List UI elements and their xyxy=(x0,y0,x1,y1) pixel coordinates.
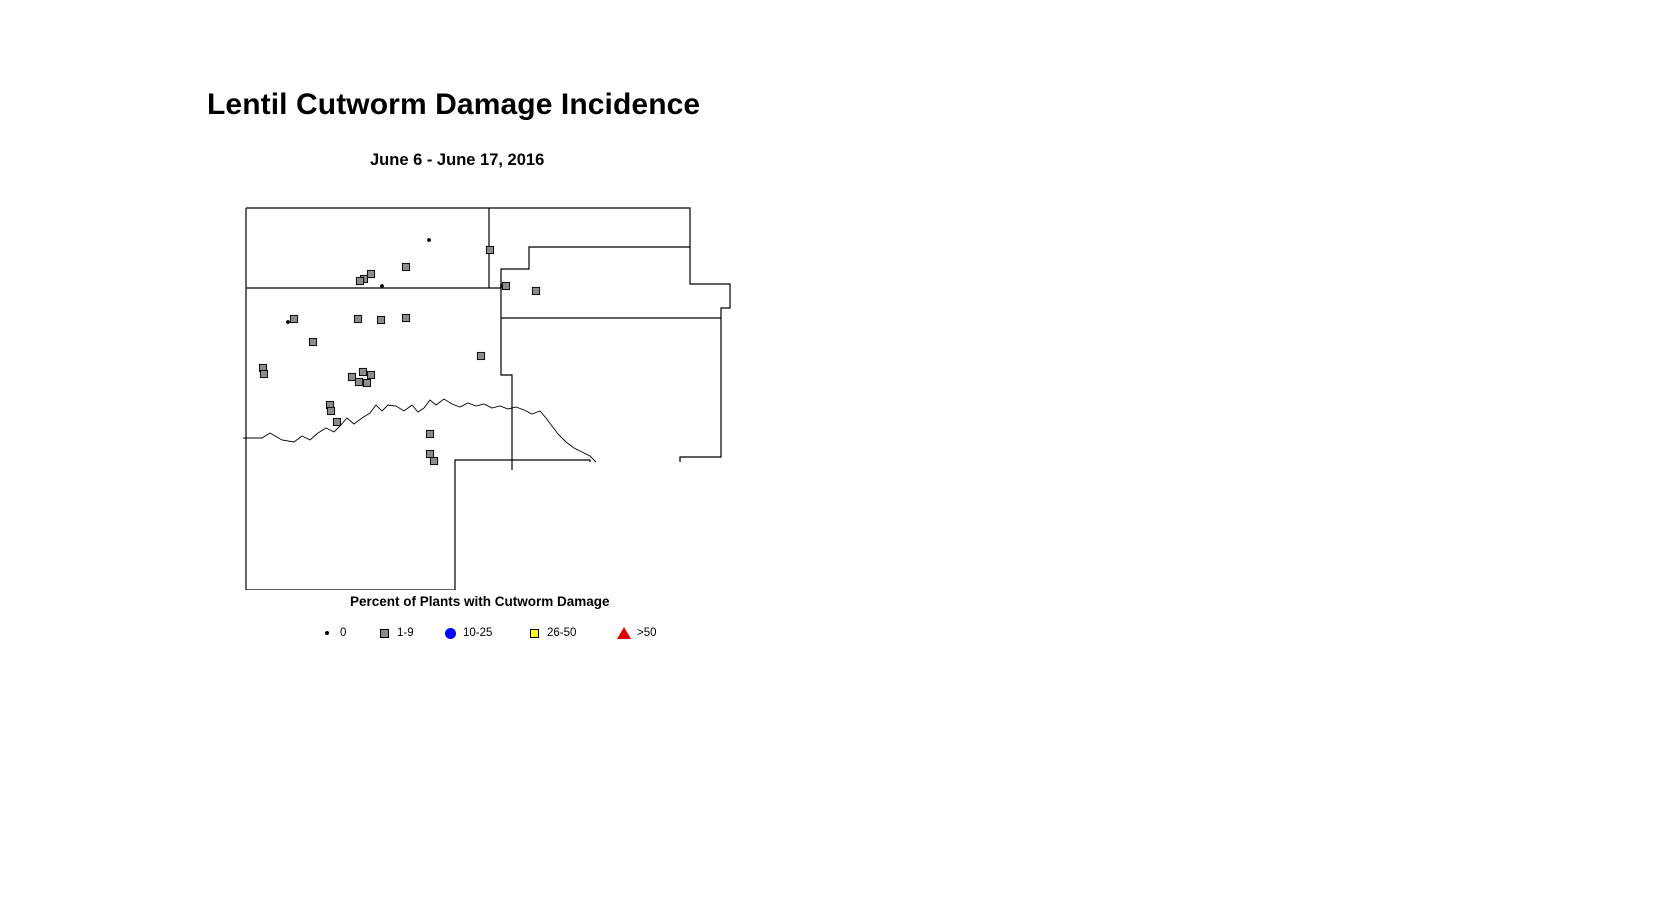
map-point-square xyxy=(260,370,267,377)
map-point-square xyxy=(290,315,297,322)
map-point-square xyxy=(532,287,539,294)
legend-item-label: >50 xyxy=(637,627,657,639)
map-point-square xyxy=(486,246,493,253)
legend-item-50: >50 xyxy=(617,622,657,644)
triangle-marker-glyph xyxy=(617,627,631,639)
map-svg xyxy=(240,200,740,590)
square-marker xyxy=(527,626,541,640)
map-point-square xyxy=(359,368,366,375)
legend-title: Percent of Plants with Cutworm Damage xyxy=(350,594,610,609)
legend-item-1-9: 1-9 xyxy=(377,622,414,644)
map-point-square xyxy=(354,315,361,322)
map-point-square xyxy=(363,379,370,386)
dot-marker-glyph xyxy=(325,631,329,635)
map-point-square xyxy=(377,316,384,323)
page-subtitle: June 6 - June 17, 2016 xyxy=(370,151,544,170)
data-points-layer xyxy=(259,238,539,465)
region-boundaries xyxy=(243,208,730,590)
map-point-square xyxy=(309,338,316,345)
square-marker-glyph xyxy=(530,629,539,638)
map-point-dot xyxy=(286,320,290,324)
map-point-square xyxy=(356,277,363,284)
legend-item-0: 0 xyxy=(320,622,346,644)
map-point-square xyxy=(367,270,374,277)
map-point-square xyxy=(402,263,409,270)
legend-item-label: 1-9 xyxy=(397,627,414,639)
map-point-square xyxy=(477,352,484,359)
legend: 01-910-2526-50>50 xyxy=(315,622,715,646)
map-point-square xyxy=(348,373,355,380)
map-point-square xyxy=(327,407,334,414)
map-point-square xyxy=(333,418,340,425)
map-point-square xyxy=(367,371,374,378)
square-marker-glyph xyxy=(380,629,389,638)
map-point-square xyxy=(502,282,509,289)
map-point-square xyxy=(426,450,433,457)
legend-item-26-50: 26-50 xyxy=(527,622,576,644)
region-outline xyxy=(246,208,730,590)
circle-marker xyxy=(443,626,457,640)
map-point-square xyxy=(426,430,433,437)
map-page: Lentil Cutworm Damage Incidence June 6 -… xyxy=(0,0,1673,900)
legend-item-label: 0 xyxy=(340,627,346,639)
map-point-dot xyxy=(427,238,431,242)
square-marker xyxy=(377,626,391,640)
circle-marker-glyph xyxy=(445,628,456,639)
legend-item-label: 10-25 xyxy=(463,627,492,639)
map-point-square xyxy=(355,378,362,385)
river-boundary xyxy=(243,399,596,462)
map-figure xyxy=(240,200,740,590)
legend-item-10-25: 10-25 xyxy=(443,622,492,644)
dot-marker xyxy=(320,626,334,640)
legend-item-label: 26-50 xyxy=(547,627,576,639)
map-point-dot xyxy=(380,284,384,288)
page-title: Lentil Cutworm Damage Incidence xyxy=(207,88,700,122)
map-point-square xyxy=(430,457,437,464)
triangle-marker xyxy=(617,626,631,640)
map-point-square xyxy=(402,314,409,321)
